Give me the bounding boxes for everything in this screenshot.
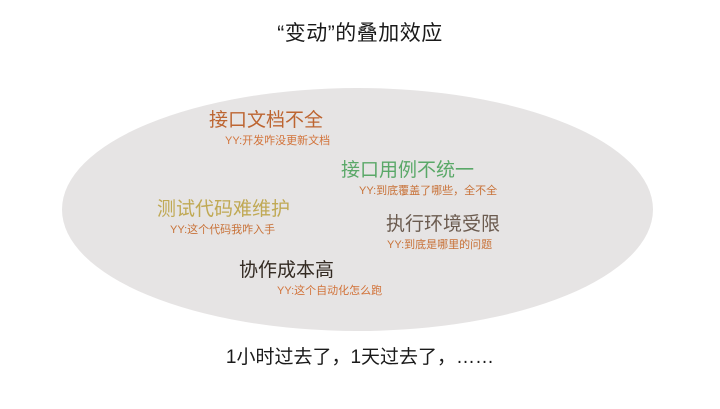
pain-point-title: 执行环境受限 bbox=[386, 213, 500, 237]
pain-point-execution-environment: 执行环境受限 YY:到底是哪里的问题 bbox=[386, 213, 500, 253]
pain-point-subtitle: YY:这个自动化怎么跑 bbox=[239, 283, 382, 299]
pain-point-title: 协作成本高 bbox=[239, 259, 382, 283]
page-title: “变动”的叠加效应 bbox=[0, 20, 720, 48]
bottom-caption: 1小时过去了，1天过去了，…… bbox=[0, 345, 720, 371]
pain-point-subtitle: YY:到底是哪里的问题 bbox=[386, 237, 500, 253]
pain-point-subtitle: YY:到底覆盖了哪些，全不全 bbox=[341, 183, 497, 199]
pain-point-subtitle: YY:开发咋没更新文档 bbox=[209, 133, 330, 149]
pain-point-test-code-maintenance: 测试代码难维护 YY:这个代码我咋入手 bbox=[157, 198, 290, 238]
pain-point-title: 测试代码难维护 bbox=[157, 198, 290, 222]
slide-canvas: “变动”的叠加效应 接口文档不全 YY:开发咋没更新文档 接口用例不统一 YY:… bbox=[0, 0, 720, 409]
pain-point-case-inconsistent: 接口用例不统一 YY:到底覆盖了哪些，全不全 bbox=[341, 159, 497, 199]
pain-point-title: 接口用例不统一 bbox=[341, 159, 497, 183]
pain-point-interface-doc: 接口文档不全 YY:开发咋没更新文档 bbox=[209, 109, 330, 149]
pain-point-collaboration-cost: 协作成本高 YY:这个自动化怎么跑 bbox=[239, 259, 382, 299]
pain-point-title: 接口文档不全 bbox=[209, 109, 330, 133]
pain-point-subtitle: YY:这个代码我咋入手 bbox=[157, 222, 290, 238]
